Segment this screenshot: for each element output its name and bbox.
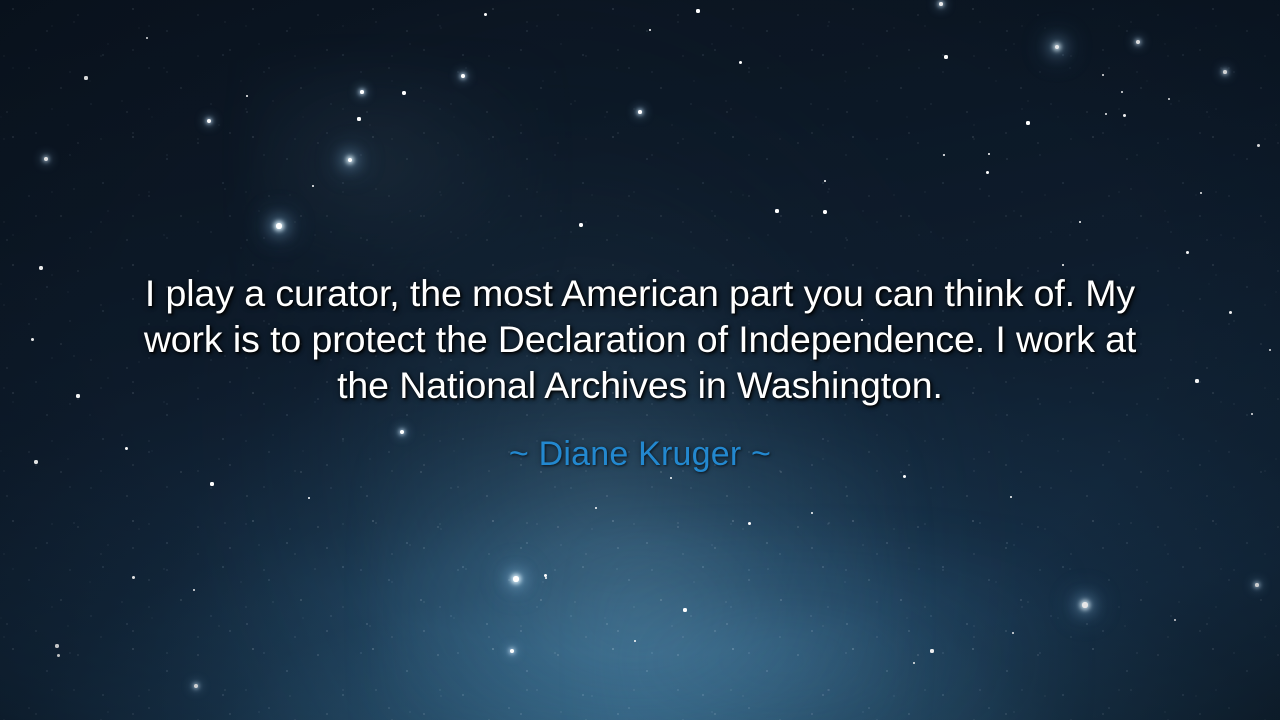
quote-attribution: ~ Diane Kruger ~ bbox=[509, 434, 771, 474]
quote-line-1: I play a curator, the most American part… bbox=[95, 270, 1185, 316]
quote-line-2: work is to protect the Declaration of In… bbox=[95, 316, 1185, 362]
quote-card: I play a curator, the most American part… bbox=[0, 0, 1280, 720]
quote-line-3: the National Archives in Washington. bbox=[95, 362, 1185, 408]
quote-text: I play a curator, the most American part… bbox=[95, 270, 1185, 408]
